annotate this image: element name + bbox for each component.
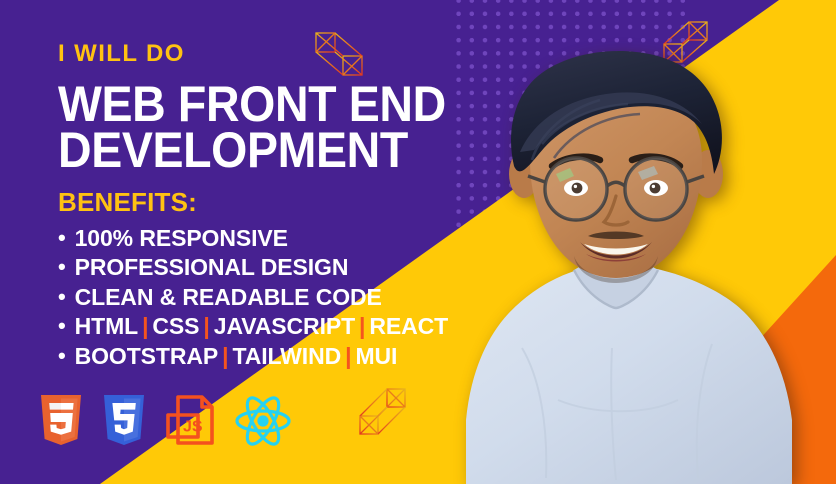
benefit-item-languages: •HTML|CSS|JAVASCRIPT|REACT [58,312,478,341]
javascript-icon: JS [164,393,216,449]
benefit-text: BOOTSTRAP [75,343,219,369]
benefit-item-label: CLEAN & READABLE CODE [75,283,382,312]
css3-icon [101,393,147,449]
benefits-list: •100% RESPONSIVE•PROFESSIONAL DESIGN•CLE… [58,224,478,371]
benefit-item-responsive: •100% RESPONSIVE [58,224,478,253]
separator-bar: | [138,313,152,339]
separator-bar: | [199,313,213,339]
benefit-item-label: 100% RESPONSIVE [75,224,288,253]
benefit-text: CSS [152,313,199,339]
benefit-item-clean-readable-code: •CLEAN & READABLE CODE [58,283,478,312]
html5-icon [38,393,84,449]
benefit-text: 100% RESPONSIVE [75,225,288,251]
benefit-item-label: HTML|CSS|JAVASCRIPT|REACT [75,312,449,341]
benefit-text: CLEAN & READABLE CODE [75,284,382,310]
benefit-text: REACT [369,313,448,339]
bullet-icon: • [58,315,66,337]
text-column: I WILL DO WEB FRONT END DEVELOPMENT BENE… [58,42,478,371]
benefit-item-professional-design: •PROFESSIONAL DESIGN [58,253,478,282]
bullet-icon: • [58,227,66,249]
tech-logo-row: JS [38,393,293,449]
benefit-item-label: BOOTSTRAP|TAILWIND|MUI [75,342,398,371]
benefit-text: MUI [355,343,397,369]
benefits-heading: BENEFITS: [58,189,478,215]
promo-banner: I WILL DO WEB FRONT END DEVELOPMENT BENE… [0,0,836,484]
benefit-text: JAVASCRIPT [214,313,355,339]
bullet-icon: • [58,286,66,308]
benefit-text: TAILWIND [232,343,341,369]
separator-bar: | [341,343,355,369]
page-title: WEB FRONT END DEVELOPMENT [58,81,449,173]
separator-bar: | [218,343,232,369]
separator-bar: | [355,313,369,339]
benefit-item-label: PROFESSIONAL DESIGN [75,253,349,282]
bullet-icon: • [58,256,66,278]
eyebrow-text: I WILL DO [58,42,478,66]
benefit-text: PROFESSIONAL DESIGN [75,254,349,280]
react-icon [233,393,293,449]
benefit-text: HTML [75,313,138,339]
bullet-icon: • [58,345,66,367]
portrait-photo [462,48,836,484]
svg-text:JS: JS [183,419,203,436]
benefit-item-frameworks: •BOOTSTRAP|TAILWIND|MUI [58,342,478,371]
